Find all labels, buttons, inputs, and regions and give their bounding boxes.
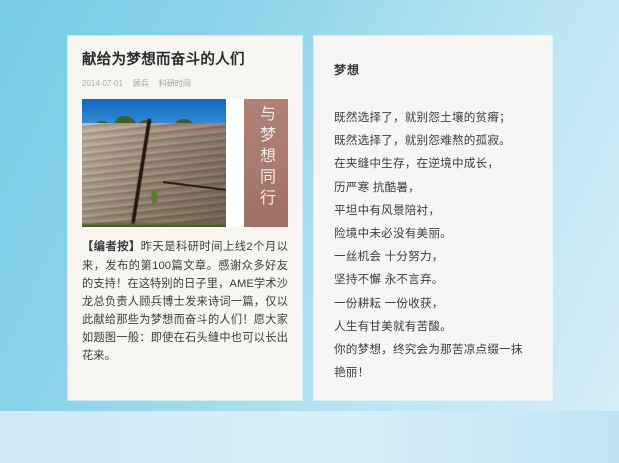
article-date: 2014-07-01 xyxy=(82,79,123,88)
poem-title: 梦想 xyxy=(334,61,552,78)
figure-side-panel: 与梦想同行 科研时间 xyxy=(244,99,288,227)
editor-note-lead: 【编者按】 xyxy=(82,241,141,253)
poem-line: 既然选择了，就别怨难熬的孤寂。 xyxy=(334,129,534,152)
poem-card: 梦想 既然选择了，就别怨土壤的贫瘠； 既然选择了，就别怨难熬的孤寂。 在夹缝中生… xyxy=(314,36,552,400)
poem-line: 人生有甘美就有苦酸。 xyxy=(334,315,534,338)
poem-line: 一份耕耘 一份收获， xyxy=(334,292,534,315)
poem-line: 既然选择了，就别怨土壤的贫瘠； xyxy=(334,106,534,129)
poem-line: 你的梦想，终究会为那苦凉点缀一抹艳丽！ xyxy=(334,338,534,384)
article-author[interactable]: 顾兵 xyxy=(133,78,149,89)
rock-shading xyxy=(82,123,226,227)
article-body: 【编者按】昨天是科研时间上线2个月以来，发布的第100篇文章。感谢众多好友的支持… xyxy=(82,238,288,365)
poem-line: 险境中未必没有美丽。 xyxy=(334,222,534,245)
hospital-emblem-icon xyxy=(438,421,470,453)
hospital-subname-en: THE FIRST AFFILIATED HOSPITAL WITH NANJI… xyxy=(476,448,605,451)
article-source[interactable]: 科研时间 xyxy=(159,78,191,89)
hospital-logo: 江 苏 省 人 民 医 院 JIANGSU PROVINCE HOSPITAL … xyxy=(438,421,605,453)
slide-background: 献给为梦想而奋斗的人们 2014-07-01 顾兵 科研时间 xyxy=(0,0,619,463)
poem-line: 历严寒 抗酷暑， xyxy=(334,176,534,199)
poem-line: 一丝机会 十分努力， xyxy=(334,245,534,268)
article-body-text: 昨天是科研时间上线2个月以来，发布的第100篇文章。感谢众多好友的支持！在这特别… xyxy=(82,241,288,362)
hospital-name-cn: 江 苏 省 人 民 医 院 xyxy=(476,423,605,432)
grass-strip xyxy=(82,221,226,227)
rock-photo xyxy=(82,99,226,227)
hospital-name-en: JIANGSU PROVINCE HOSPITAL xyxy=(476,433,605,438)
article-meta: 2014-07-01 顾兵 科研时间 xyxy=(82,78,302,89)
poem-line: 在夹缝中生存，在逆境中成长， xyxy=(334,152,534,175)
hospital-subname-cn: 南京医科大学第一附属医院 xyxy=(476,440,605,448)
poem-line: 平坦中有风景陪衬， xyxy=(334,199,534,222)
article-card: 献给为梦想而奋斗的人们 2014-07-01 顾兵 科研时间 xyxy=(68,36,302,400)
figure-spacer xyxy=(226,99,244,227)
article-figure: 与梦想同行 科研时间 xyxy=(82,99,288,227)
poem-body: 既然选择了，就别怨土壤的贫瘠； 既然选择了，就别怨难熬的孤寂。 在夹缝中生存，在… xyxy=(334,106,534,384)
side-panel-label: 与梦想同行 xyxy=(258,105,274,210)
poem-line: 坚持不懈 永不言弃。 xyxy=(334,268,534,291)
rock-face xyxy=(82,123,226,227)
hospital-logo-text: 江 苏 省 人 民 医 院 JIANGSU PROVINCE HOSPITAL … xyxy=(476,423,605,452)
page-title: 献给为梦想而奋斗的人们 xyxy=(82,52,302,69)
